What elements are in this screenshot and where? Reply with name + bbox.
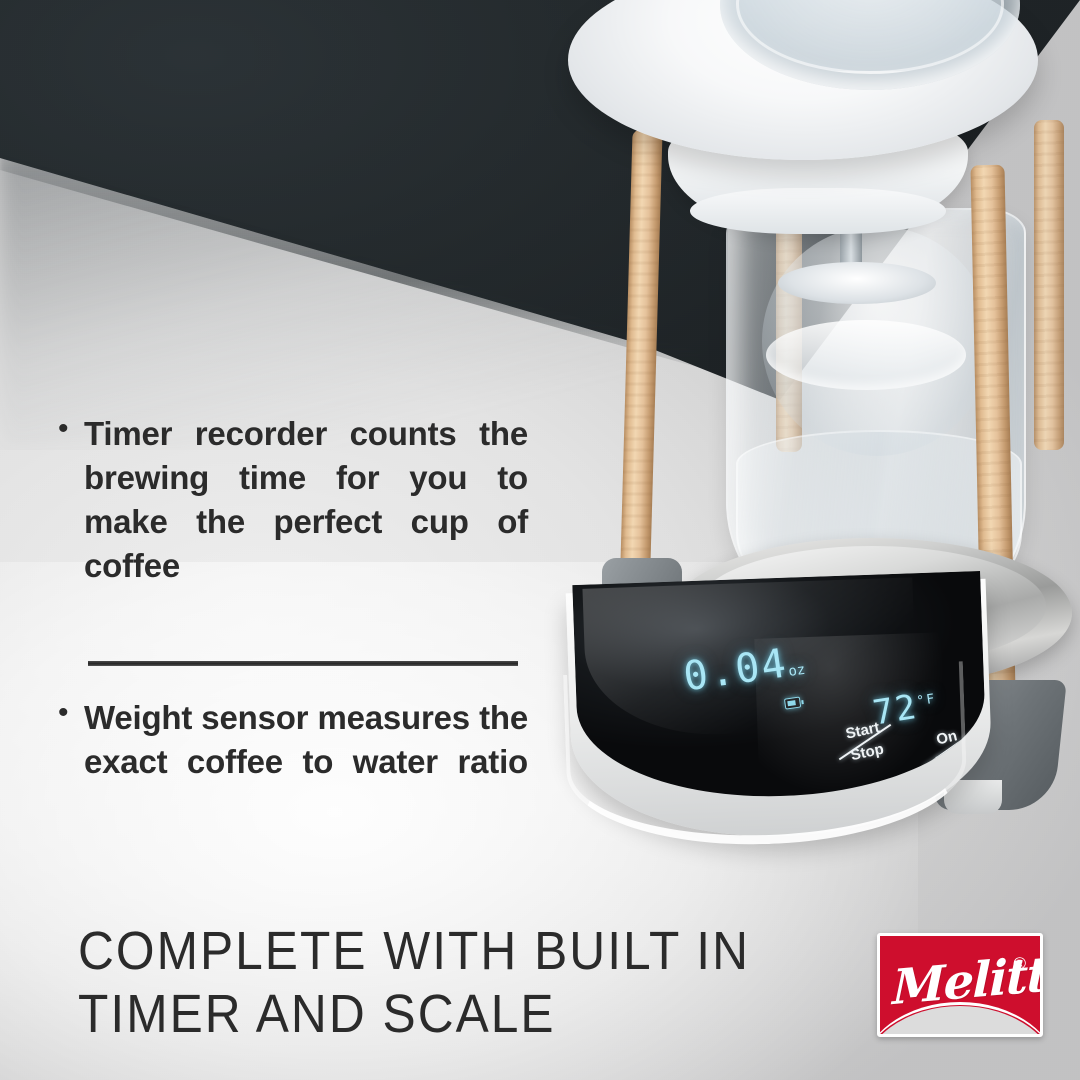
feature-bullet-item: • Timer recorder counts the brewing time… bbox=[58, 412, 528, 631]
headline-line-1: COMPLETE WITH BUILT IN bbox=[78, 920, 759, 983]
wooden-leg-right-rear bbox=[1034, 120, 1064, 450]
product-feature-card: 0.04oz 72°F Start Stop On Tare • Timer r… bbox=[0, 0, 1080, 1080]
bullet-marker-icon: • bbox=[58, 696, 84, 729]
bullet-marker-icon: • bbox=[58, 412, 84, 445]
headline-line-2: TIMER AND SCALE bbox=[78, 983, 759, 1046]
brew-cone-band bbox=[690, 188, 946, 234]
feature-copy-block: • Timer recorder counts the brewing time… bbox=[58, 412, 528, 828]
feature-bullet-text: Weight sensor measures the exact coffee … bbox=[84, 696, 528, 828]
headline: COMPLETE WITH BUILT IN TIMER AND SCALE bbox=[78, 920, 759, 1046]
filter-ring bbox=[766, 320, 966, 390]
registered-trademark-icon: ® bbox=[1013, 954, 1026, 974]
copy-divider bbox=[88, 661, 518, 666]
feature-bullet-item: • Weight sensor measures the exact coffe… bbox=[58, 696, 528, 828]
melitta-logo: Melitta ® bbox=[877, 933, 1043, 1037]
scale-base-rim bbox=[563, 661, 969, 851]
logo-plate: Melitta ® bbox=[877, 933, 1043, 1037]
wooden-leg-back-left bbox=[619, 130, 662, 601]
product-image: 0.04oz 72°F Start Stop On Tare bbox=[540, 0, 1080, 870]
dripper-disc bbox=[778, 262, 936, 304]
feature-bullet-text: Timer recorder counts the brewing time f… bbox=[84, 412, 528, 631]
